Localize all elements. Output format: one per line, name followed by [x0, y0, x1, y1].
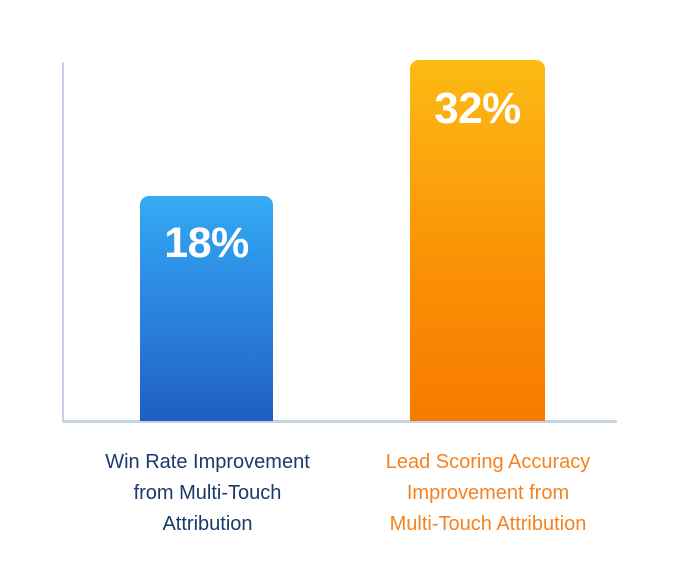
- bar-win-rate-improvement[interactable]: 18%: [140, 196, 273, 421]
- category-label-win-rate-improvement: Win Rate Improvement from Multi-Touch At…: [70, 447, 345, 540]
- bar-lead-scoring-accuracy[interactable]: 32%: [410, 60, 545, 421]
- bar-value-label-lead-scoring: 32%: [410, 87, 545, 131]
- bar-value-label-win-rate: 18%: [140, 222, 273, 265]
- y-axis-line: [62, 62, 64, 422]
- category-label-lead-scoring-accuracy: Lead Scoring Accuracy Improvement from M…: [343, 447, 633, 540]
- bar-chart: 18% 32% Win Rate Improvement from Multi-…: [0, 0, 675, 566]
